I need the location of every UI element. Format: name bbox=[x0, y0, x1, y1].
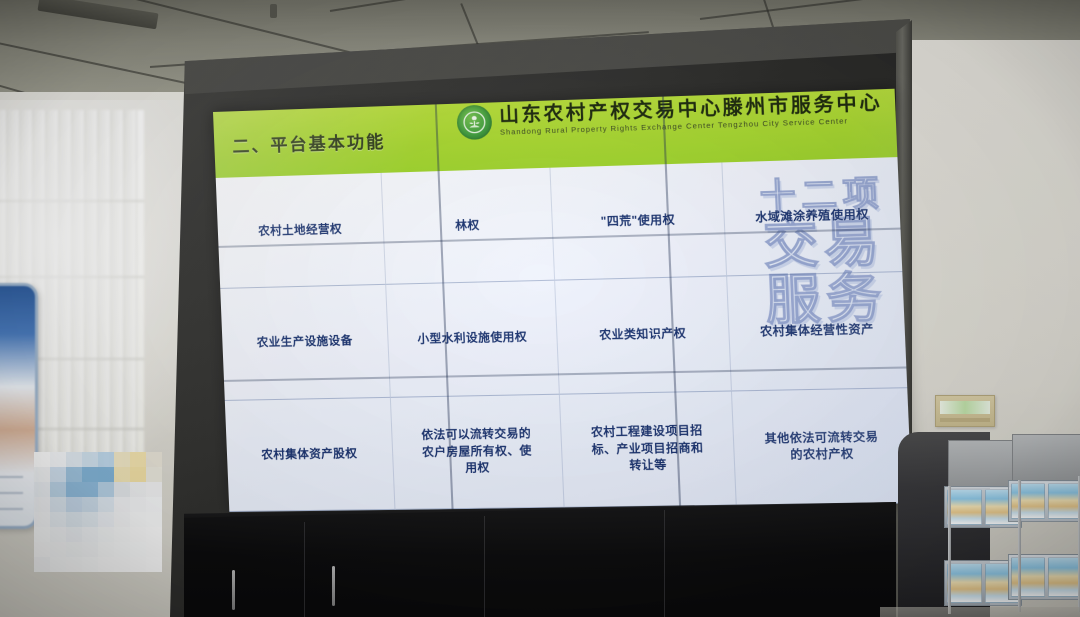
brochure-rack-back-panel bbox=[1012, 434, 1080, 482]
leaflet bbox=[947, 563, 982, 603]
mosaic-tile bbox=[98, 482, 114, 497]
table-cell[interactable]: 农村集体资产股权 bbox=[225, 397, 396, 512]
mosaic-tile bbox=[98, 467, 114, 482]
cell-label: 林权 bbox=[455, 218, 480, 235]
mosaic-tile bbox=[82, 482, 98, 497]
mosaic-tile bbox=[34, 497, 50, 512]
mosaic-tile bbox=[130, 467, 146, 482]
table-cell[interactable]: 农村集体经营性资产 bbox=[727, 272, 907, 391]
table-cell[interactable]: 农村土地经营权 bbox=[216, 173, 387, 289]
mosaic-tile bbox=[66, 512, 82, 527]
mosaic-tile bbox=[130, 542, 146, 557]
pixelated-censor-block bbox=[34, 452, 162, 572]
cell-label: "四荒"使用权 bbox=[600, 212, 675, 231]
mosaic-tile bbox=[130, 452, 146, 467]
mosaic-tile bbox=[66, 467, 82, 482]
mosaic-tile bbox=[146, 452, 162, 467]
mosaic-tile bbox=[34, 467, 50, 482]
table-cell[interactable]: 农业生产设施设备 bbox=[220, 285, 391, 400]
leaflet bbox=[1048, 557, 1080, 597]
table-cell[interactable]: 依法可以流转交易的农户房屋所有权、使用权 bbox=[391, 394, 565, 510]
mosaic-tile bbox=[146, 497, 162, 512]
mosaic-tile bbox=[114, 557, 130, 572]
mosaic-tile bbox=[114, 527, 130, 542]
mosaic-tile bbox=[50, 497, 66, 512]
mosaic-tile bbox=[82, 452, 98, 467]
mosaic-tile bbox=[66, 482, 82, 497]
mosaic-tile bbox=[34, 542, 50, 557]
mosaic-tile bbox=[130, 557, 146, 572]
mosaic-tile bbox=[66, 557, 82, 572]
leaflet bbox=[1011, 557, 1045, 597]
mosaic-tile bbox=[130, 497, 146, 512]
mosaic-tile bbox=[34, 482, 50, 497]
mosaic-tile bbox=[66, 452, 82, 467]
baseboard bbox=[880, 607, 1080, 617]
mosaic-tile bbox=[130, 527, 146, 542]
brand-text: 山东农村产权交易中心滕州市服务中心 Shandong Rural Propert… bbox=[499, 94, 883, 137]
cell-label: 农村集体经营性资产 bbox=[760, 322, 874, 341]
wall-plaque-sign bbox=[935, 395, 995, 427]
mosaic-tile bbox=[34, 512, 50, 527]
slide-section-title: 二、平台基本功能 bbox=[232, 127, 386, 157]
mosaic-tile bbox=[82, 557, 98, 572]
mosaic-tile bbox=[114, 512, 130, 527]
mosaic-tile bbox=[66, 497, 82, 512]
services-table: 农村土地经营权 林权 "四荒"使用权 水域滩涂养殖使用权 农业生产设施设备 小型… bbox=[216, 157, 912, 512]
cabinet-handle bbox=[332, 566, 335, 606]
mosaic-tile bbox=[146, 527, 162, 542]
table-cell[interactable]: 林权 bbox=[382, 168, 556, 285]
cell-label: 农业类知识产权 bbox=[599, 326, 687, 345]
mosaic-tile bbox=[82, 542, 98, 557]
mosaic-tile bbox=[130, 512, 146, 527]
mosaic-tile bbox=[114, 467, 130, 482]
mosaic-tile bbox=[114, 497, 130, 512]
table-cell[interactable]: 水域滩涂养殖使用权 bbox=[722, 157, 902, 277]
mosaic-tile bbox=[146, 467, 162, 482]
left-standee-poster bbox=[0, 283, 38, 529]
cell-label: 农村集体资产股权 bbox=[261, 446, 358, 464]
table-cell[interactable]: 小型水利设施使用权 bbox=[386, 281, 560, 398]
mosaic-tile bbox=[50, 527, 66, 542]
room-photo-scene: 二、平台基本功能 山东农村产权交易中心滕州市服务中心 bbox=[0, 0, 1080, 617]
leaflet bbox=[1048, 483, 1080, 519]
mosaic-tile bbox=[146, 482, 162, 497]
cell-label: 其他依法可流转交易的农村产权 bbox=[762, 429, 882, 465]
mosaic-tile bbox=[146, 512, 162, 527]
mosaic-tile bbox=[98, 527, 114, 542]
table-cell[interactable]: 农业类知识产权 bbox=[555, 277, 732, 395]
mosaic-tile bbox=[82, 512, 98, 527]
leaflet bbox=[1011, 483, 1045, 519]
mosaic-tile bbox=[98, 452, 114, 467]
mosaic-tile bbox=[66, 527, 82, 542]
rack-leg bbox=[948, 486, 951, 614]
mosaic-tile bbox=[146, 557, 162, 572]
hands-holding-sprout-emblem bbox=[457, 105, 493, 141]
mosaic-tile bbox=[98, 542, 114, 557]
mosaic-tile bbox=[34, 452, 50, 467]
mosaic-tile bbox=[146, 542, 162, 557]
cell-label: 小型水利设施使用权 bbox=[417, 330, 527, 349]
mosaic-tile bbox=[98, 557, 114, 572]
mosaic-tile bbox=[50, 542, 66, 557]
rack-leg bbox=[1018, 480, 1021, 612]
mosaic-tile bbox=[114, 542, 130, 557]
mosaic-tile bbox=[98, 497, 114, 512]
table-cell[interactable]: 农村工程建设项目招标、产业项目招商和转让等 bbox=[560, 391, 737, 508]
video-wall-unit: 二、平台基本功能 山东农村产权交易中心滕州市服务中心 bbox=[170, 16, 910, 617]
mosaic-tile bbox=[114, 452, 130, 467]
slide-body: 十二项 交易 服务 农村土地经营权 林权 "四荒"使用权 水域滩涂养殖使用权 农… bbox=[216, 157, 912, 512]
mosaic-tile bbox=[82, 497, 98, 512]
mosaic-tile bbox=[82, 467, 98, 482]
cell-label: 水域滩涂养殖使用权 bbox=[755, 207, 869, 227]
mosaic-tile bbox=[34, 527, 50, 542]
cell-label: 农村土地经营权 bbox=[258, 221, 342, 240]
video-wall-screen[interactable]: 二、平台基本功能 山东农村产权交易中心滕州市服务中心 bbox=[213, 89, 912, 512]
table-cell[interactable]: 其他依法可流转交易的农村产权 bbox=[732, 388, 912, 506]
mosaic-tile bbox=[50, 512, 66, 527]
mosaic-tile bbox=[50, 482, 66, 497]
cell-label: 农村工程建设项目招标、产业项目招商和转让等 bbox=[588, 423, 707, 475]
cell-label: 农业生产设施设备 bbox=[257, 333, 353, 351]
cabinet-handle bbox=[232, 570, 235, 610]
ceiling-vent bbox=[37, 0, 158, 29]
mosaic-tile bbox=[130, 482, 146, 497]
table-cell[interactable]: "四荒"使用权 bbox=[550, 162, 727, 281]
mosaic-tile bbox=[82, 527, 98, 542]
leaflet bbox=[947, 489, 982, 525]
mosaic-tile bbox=[50, 452, 66, 467]
cabinet-below-screen bbox=[184, 502, 896, 617]
mosaic-tile bbox=[34, 557, 50, 572]
mosaic-tile bbox=[50, 557, 66, 572]
mosaic-tile bbox=[98, 512, 114, 527]
mosaic-tile bbox=[66, 542, 82, 557]
mosaic-tile bbox=[50, 467, 66, 482]
mosaic-tile bbox=[114, 482, 130, 497]
cell-label: 依法可以流转交易的农户房屋所有权、使用权 bbox=[419, 426, 536, 477]
